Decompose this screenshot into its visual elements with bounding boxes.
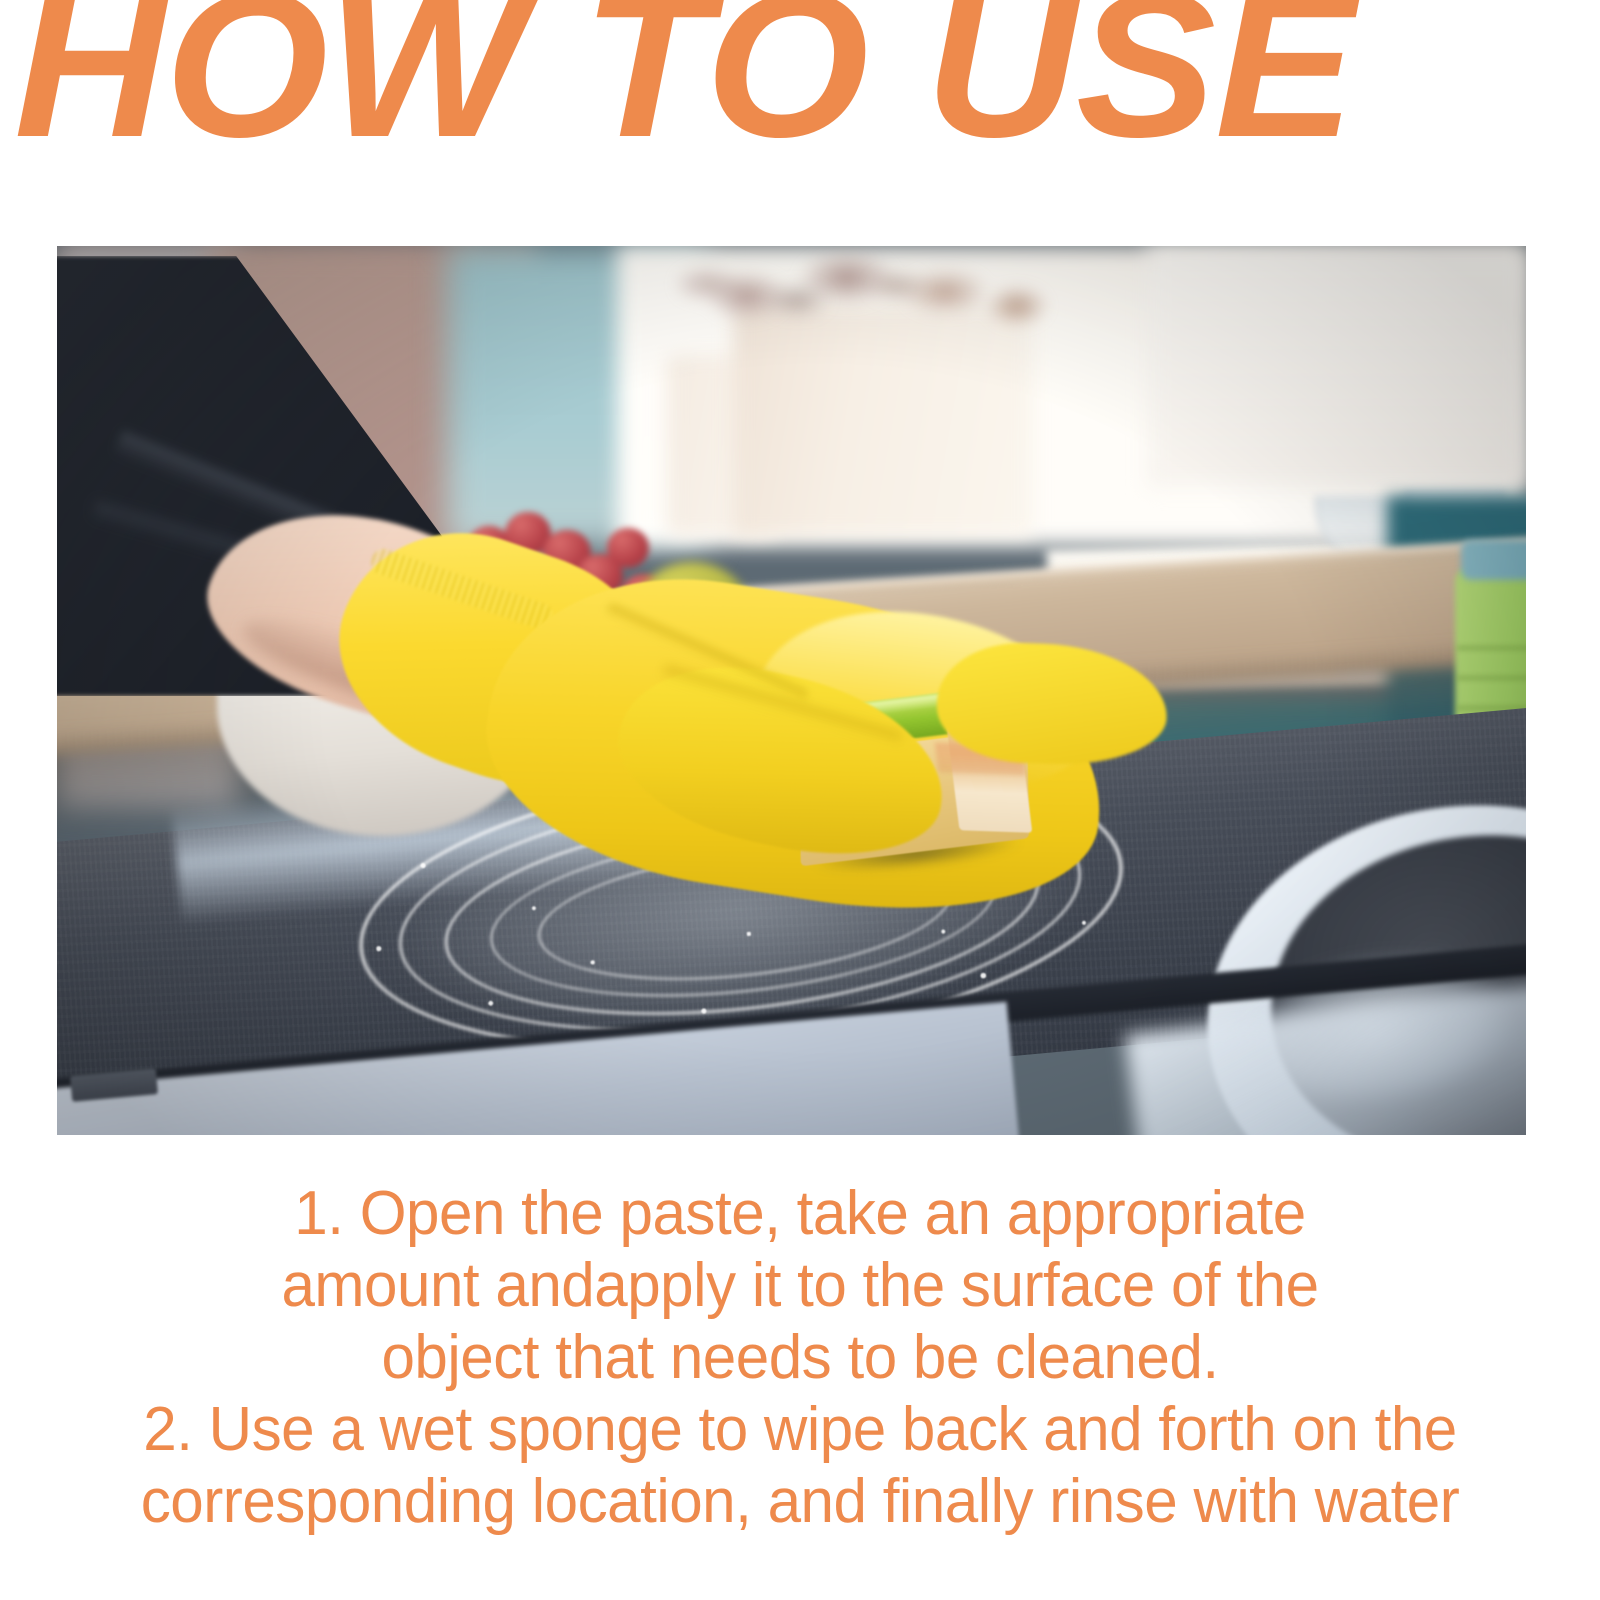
white-bowl-rim bbox=[215, 638, 549, 678]
instruction-step-1-line-2: amount andapply it to the surface of the bbox=[24, 1250, 1576, 1322]
soap-bottle-ridges bbox=[1457, 646, 1526, 816]
kitchen-cabinet bbox=[57, 1002, 1019, 1135]
foam-haze bbox=[272, 700, 1202, 1122]
dried-flowers-shadow bbox=[737, 256, 997, 366]
glove-knuckles bbox=[749, 597, 1095, 801]
title-bar: HOW TO USE bbox=[0, 0, 1600, 200]
countertop-sheen bbox=[171, 718, 1078, 925]
foam-swirl-ring bbox=[488, 807, 999, 1018]
sponge-scour-highlight bbox=[834, 685, 1016, 720]
teal-wall-right bbox=[1387, 496, 1526, 826]
window-light-right bbox=[1147, 246, 1526, 486]
dried-flowers bbox=[677, 246, 1077, 376]
wooden-shelf-highlight bbox=[57, 536, 1526, 650]
background-wall-grey bbox=[57, 246, 237, 806]
window-sill-top bbox=[1047, 538, 1526, 592]
sink-basin bbox=[1255, 815, 1526, 1135]
wooden-shelf-shadow bbox=[57, 648, 1526, 836]
foam-swirl-ring bbox=[395, 756, 1085, 1062]
background-wall-teal bbox=[447, 246, 707, 546]
instruction-step-1-line-1: 1. Open the paste, take an appropriate bbox=[24, 1178, 1576, 1250]
background-wall-left bbox=[57, 246, 477, 716]
plate-food bbox=[1142, 638, 1208, 664]
instruction-step-1-line-3: object that needs to be cleaned. bbox=[24, 1322, 1576, 1394]
window-light bbox=[617, 246, 1526, 546]
glove-crease bbox=[604, 602, 811, 704]
sleeve-fold bbox=[91, 501, 414, 611]
dark-countertop bbox=[57, 702, 1526, 1135]
glove-shadow bbox=[613, 777, 1040, 915]
red-grapes bbox=[457, 502, 697, 642]
sink-highlight bbox=[1186, 912, 1526, 1135]
countertop-glare bbox=[1125, 979, 1526, 1135]
soap-bottle-cap bbox=[1461, 540, 1526, 580]
sponge-body bbox=[799, 728, 1029, 867]
window-sill-face bbox=[1016, 571, 1526, 694]
glove-crease bbox=[660, 664, 904, 746]
foam-swirl-ring bbox=[536, 830, 954, 998]
background-wall-pink bbox=[207, 246, 537, 706]
green-pear bbox=[632, 562, 752, 658]
wooden-shelf bbox=[57, 540, 1526, 758]
sink-rim bbox=[1186, 780, 1526, 1135]
foam-bubbles bbox=[294, 721, 1201, 1111]
foam-swirl-ring bbox=[354, 730, 1127, 1085]
page-title: HOW TO USE bbox=[14, 0, 1600, 168]
sponge-stain-band bbox=[935, 743, 1026, 776]
red-object bbox=[253, 606, 380, 684]
sleeve-fold bbox=[113, 431, 401, 567]
glove-cuff bbox=[309, 499, 696, 824]
bare-forearm bbox=[187, 476, 568, 757]
sponge-scour-pad bbox=[812, 679, 1052, 751]
yellow-rubber-glove bbox=[467, 549, 1126, 942]
countertop-front-edge bbox=[57, 937, 1526, 1112]
wooden-fruit-bowl-rim bbox=[655, 601, 871, 635]
teal-wall-main bbox=[897, 696, 1526, 946]
small-vase bbox=[667, 356, 777, 536]
countertop-grain bbox=[57, 702, 1526, 1135]
sponge-end-face bbox=[944, 701, 1033, 833]
instruction-step-2-line-2: corresponding location, and finally rins… bbox=[24, 1466, 1576, 1538]
glove-thumb bbox=[602, 641, 962, 881]
photo-vignette bbox=[57, 246, 1526, 1135]
instruction-step-2-line-1: 2. Use a wet sponge to wipe back and for… bbox=[24, 1394, 1576, 1466]
sponge-shadow bbox=[776, 819, 1058, 886]
teal-wall-left bbox=[657, 716, 957, 896]
forearm-shadow bbox=[235, 599, 539, 744]
glove-cuff-texture bbox=[368, 546, 556, 632]
green-soap-bottle bbox=[1455, 566, 1526, 836]
glove-finger bbox=[935, 640, 1169, 768]
orange-fruit bbox=[717, 604, 803, 666]
white-plate bbox=[1077, 638, 1307, 680]
white-bowl bbox=[217, 646, 547, 836]
foam-swirl-ring bbox=[441, 783, 1043, 1042]
black-sleeve bbox=[57, 256, 517, 696]
pale-fruit bbox=[783, 612, 845, 664]
how-to-use-photo bbox=[57, 246, 1526, 1135]
instructions-block: 1. Open the paste, take an appropriate a… bbox=[0, 1178, 1600, 1538]
cabinet-handle bbox=[70, 1068, 158, 1102]
white-vase bbox=[733, 306, 1033, 536]
wooden-fruit-bowl bbox=[657, 606, 867, 726]
